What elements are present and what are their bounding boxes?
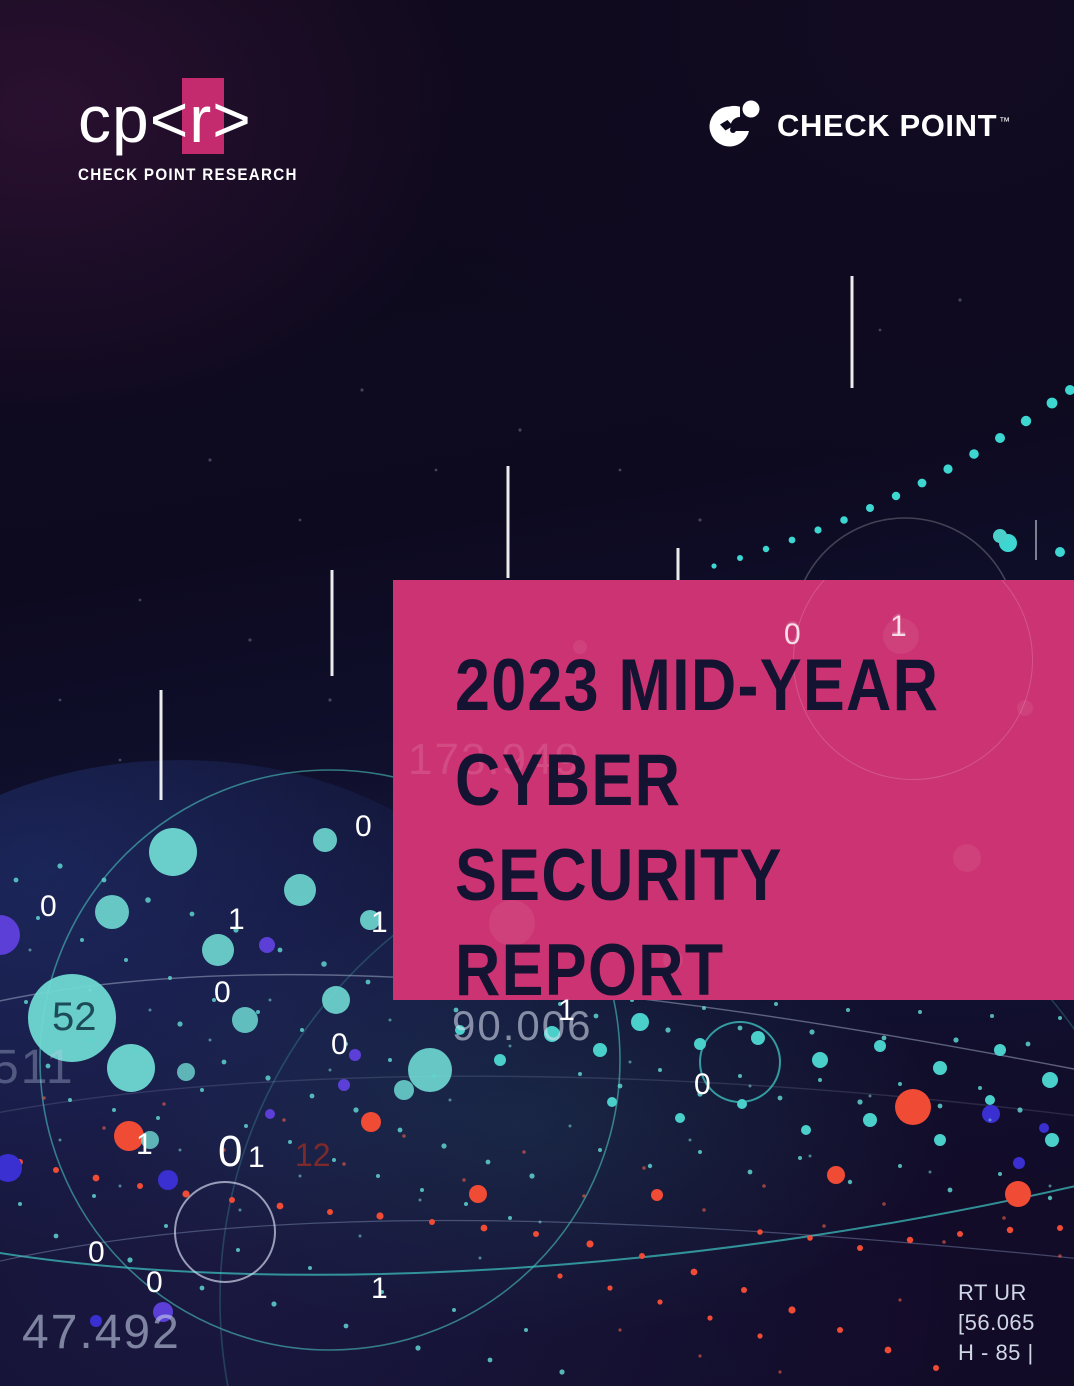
cpr-logo: cp<r> CHECK POINT RESEARCH [78, 84, 317, 185]
decorative-bubble [1017, 700, 1033, 716]
check-point-wordmark: CHECK POINT™ [777, 108, 1011, 144]
artwork-stat-90006: 90.006 [452, 1002, 592, 1050]
cpr-wordmark-text: cp<r> [78, 84, 252, 154]
cpr-wordmark: cp<r> [78, 84, 317, 158]
check-point-logo: CHECK POINT™ [707, 100, 1011, 152]
page-title: 2023 MID-YEAR CYBER SECURITY REPORT [455, 638, 971, 1000]
artwork-stat-511: 511 [0, 1040, 75, 1095]
report-cover-page: cp<r> CHECK POINT RESEARCH CHECK POINT™ … [0, 0, 1074, 1386]
trademark-symbol: ™ [999, 116, 1011, 128]
check-point-wordmark-text: CHECK POINT [777, 108, 997, 143]
bubble-label-52: 52 [52, 995, 97, 1040]
bubble-label-12: 12 [295, 1137, 331, 1174]
telemetry-readout: RT UR [56.065 H - 85 | [958, 1278, 1074, 1368]
artwork-stat-47492: 47.492 [22, 1305, 181, 1360]
binary-digit: 1 [890, 608, 907, 642]
cpr-subtitle: CHECK POINT RESEARCH [78, 166, 298, 185]
title-block: 0 1 2023 MID-YEAR CYBER SECURITY REPORT [393, 580, 1074, 1000]
check-point-circle-logo-icon [707, 100, 763, 152]
